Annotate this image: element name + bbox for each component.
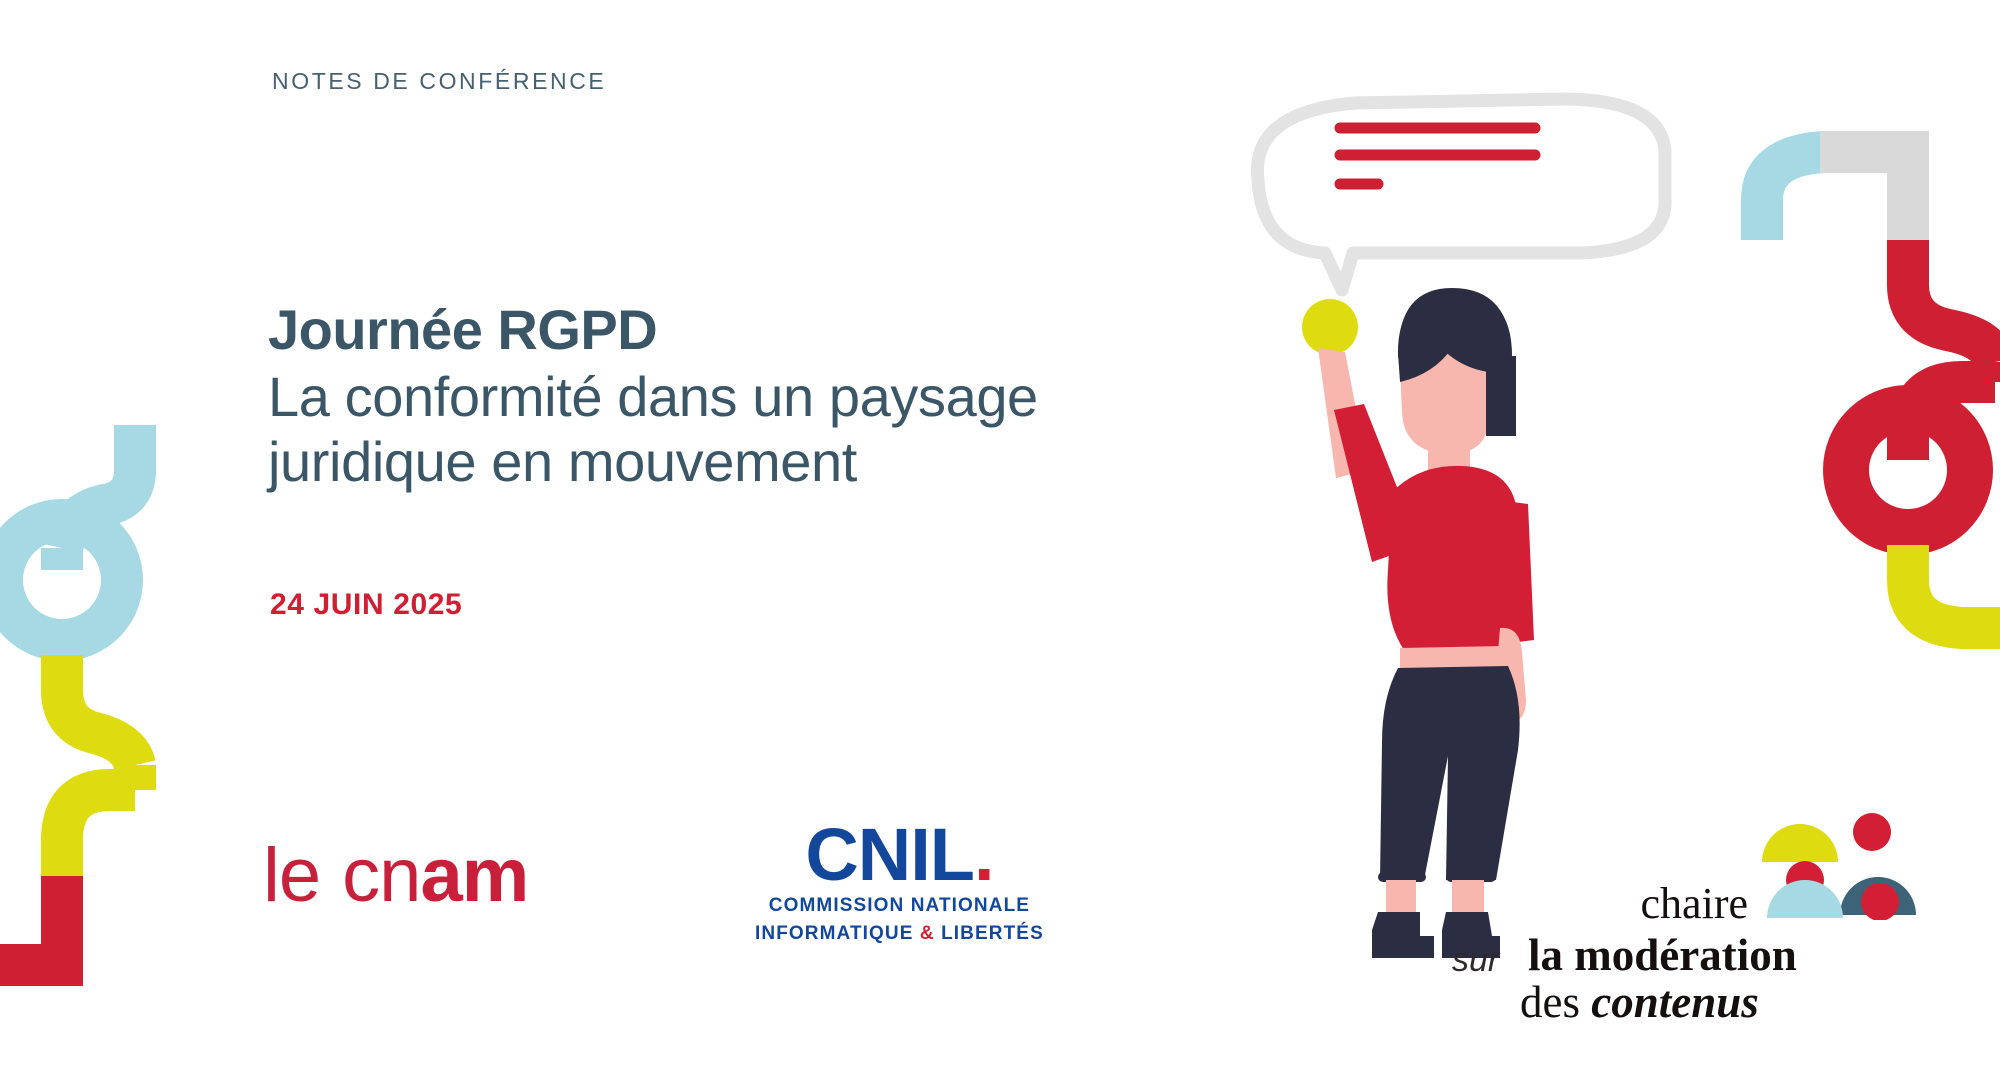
cnil-subtitle-ampersand: & — [920, 923, 935, 944]
cnam-logo-le: le — [263, 833, 320, 918]
cnil-subtitle-libertes: LIBERTÉS — [935, 923, 1044, 944]
cnil-subtitle-informatique: INFORMATIQUE — [755, 923, 920, 944]
page-title: Journée RGPD — [268, 300, 1248, 359]
chaire-line-moderation: la modération — [1528, 933, 1797, 978]
chaire-line-sur: sur — [1452, 943, 1499, 977]
page-subtitle-line1: La conformité dans un paysage — [268, 365, 1248, 430]
ball-icon — [1302, 299, 1358, 355]
chaire-logo: chaire sur la modération des contenus — [1440, 800, 1910, 1020]
cnil-subtitle-line2: INFORMATIQUE & LIBERTÉS — [755, 922, 1044, 946]
conference-slide: NOTES DE CONFÉRENCE Journée RGPD La conf… — [0, 0, 2000, 1083]
speech-bubble-outline — [1257, 99, 1665, 290]
title-block: Journée RGPD La conformité dans un paysa… — [268, 300, 1248, 495]
chaire-wordmark: chaire sur la modération des contenus — [1440, 800, 1910, 1020]
chaire-contenus: contenus — [1591, 977, 1759, 1027]
cnam-logo: lecnam — [263, 838, 528, 914]
page-subtitle-line2: juridique en mouvement — [268, 430, 1248, 495]
cnil-subtitle-line1: COMMISSION NATIONALE — [755, 894, 1044, 918]
cnil-logo-text: CNIL — [805, 813, 974, 896]
eyebrow-label: NOTES DE CONFÉRENCE — [272, 68, 606, 95]
cnil-logo-dot: . — [974, 813, 994, 896]
cnam-logo-cn: cn — [342, 833, 420, 918]
event-date: 24 JUIN 2025 — [270, 588, 462, 622]
chaire-line-contenus: des contenus — [1520, 980, 1759, 1025]
cnil-logo: CNIL. COMMISSION NATIONALE INFORMATIQUE … — [755, 820, 1044, 946]
chaire-line-chaire: chaire — [1641, 882, 1748, 926]
cnil-logo-wordmark: CNIL. — [755, 820, 1044, 890]
cnam-logo-am: am — [420, 833, 528, 918]
chaire-des: des — [1520, 977, 1591, 1027]
